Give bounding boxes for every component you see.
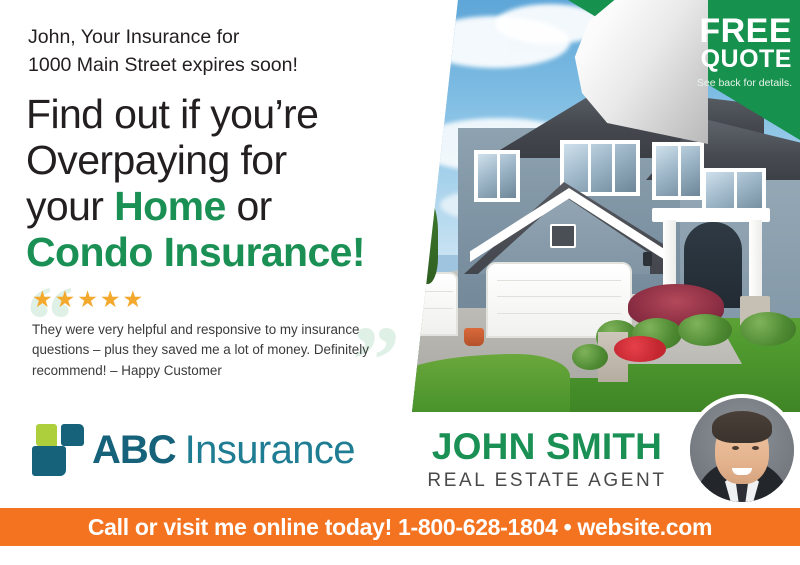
shrub xyxy=(678,314,732,346)
postcard: FREE QUOTE See back for details. John, Y… xyxy=(0,0,800,565)
window xyxy=(474,150,520,202)
shrub xyxy=(740,312,796,346)
headshot-eye xyxy=(752,446,759,450)
testimonial-text: They were very helpful and responsive to… xyxy=(32,320,384,381)
free-quote-quote-label: QUOTE xyxy=(662,47,792,72)
free-quote-subtext: See back for details. xyxy=(662,77,792,90)
window xyxy=(652,142,704,200)
logo-mark-icon xyxy=(32,424,88,476)
exterior-lamp xyxy=(643,252,652,266)
agent-info: JOHN SMITH REAL ESTATE AGENT xyxy=(418,428,676,490)
star-rating: ★★★★★ xyxy=(32,288,394,311)
logo-square-teal-top xyxy=(61,424,84,446)
headline-line-3: your Home or xyxy=(26,184,418,230)
shrub xyxy=(572,344,608,370)
headline-condo-highlight: Condo Insurance! xyxy=(26,229,365,275)
eyebrow-line-1: John, Your Insurance for xyxy=(28,24,388,52)
gable-vent xyxy=(550,224,576,248)
logo-brand-abc: ABC xyxy=(92,430,176,470)
logo-brand-insurance: Insurance xyxy=(185,430,355,470)
headshot-eye xyxy=(732,446,739,450)
headline-line-1: Find out if you’re xyxy=(26,92,418,138)
free-quote-badge: FREE QUOTE See back for details. xyxy=(662,16,792,91)
eyebrow-text: John, Your Insurance for 1000 Main Stree… xyxy=(28,24,388,79)
headline-line-3-suffix: or xyxy=(226,183,272,229)
agent-name: JOHN SMITH xyxy=(418,428,676,465)
logo-square-teal-large xyxy=(32,446,66,476)
headline-line-2: Overpaying for xyxy=(26,138,418,184)
agent-headshot xyxy=(686,394,798,506)
company-logo: ABC Insurance xyxy=(32,424,355,476)
lawn-foreground xyxy=(400,354,570,412)
flower-pot xyxy=(464,328,484,346)
cta-bar: Call or visit me online today! 1-800-628… xyxy=(0,508,800,546)
logo-square-green xyxy=(36,424,57,446)
eyebrow-line-2: 1000 Main Street expires soon! xyxy=(28,52,388,80)
headline: Find out if you’re Overpaying for your H… xyxy=(26,92,418,276)
agent-role: REAL ESTATE AGENT xyxy=(418,471,676,490)
headline-line-3-prefix: your xyxy=(26,183,114,229)
testimonial: “ ” ★★★★★ They were very helpful and res… xyxy=(24,288,394,381)
cta-text: Call or visit me online today! 1-800-628… xyxy=(88,514,712,541)
free-quote-free-label: FREE xyxy=(662,16,792,47)
headshot-hair xyxy=(712,411,772,443)
headline-home-highlight: Home xyxy=(114,183,226,229)
headline-line-4: Condo Insurance! xyxy=(26,230,418,276)
flower-bed xyxy=(614,336,666,362)
